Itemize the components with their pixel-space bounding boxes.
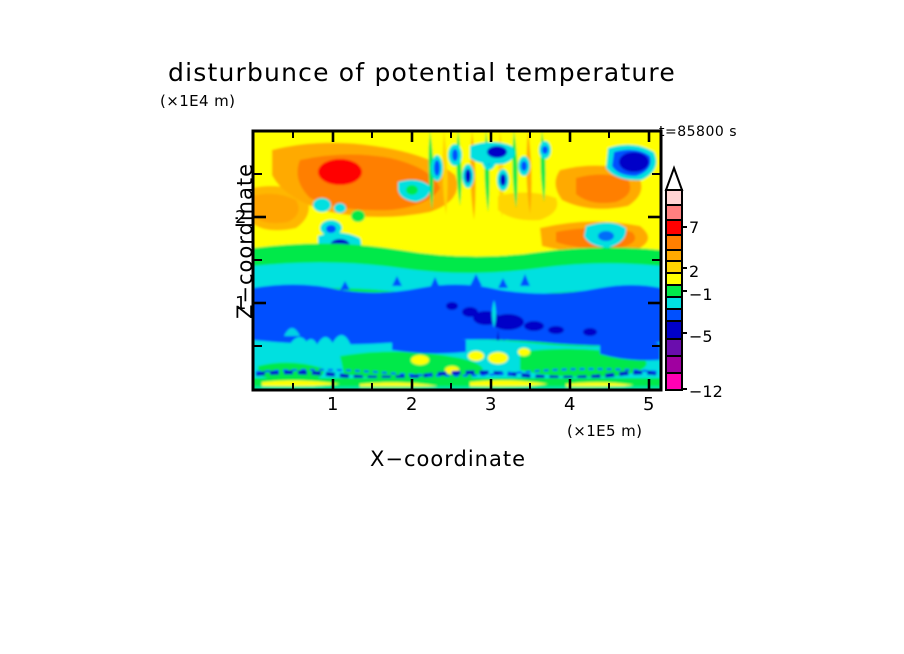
colorbar-band (666, 235, 682, 250)
colorbar-band (666, 190, 682, 205)
contour-field (253, 131, 661, 390)
colorbar-band (666, 273, 682, 285)
figure-canvas: disturbunce of potential temperature (×1… (0, 0, 904, 654)
colorbar-band (666, 297, 682, 309)
colorbar-band (666, 339, 682, 356)
colorbar-band (666, 321, 682, 339)
colorbar-band (666, 373, 682, 390)
colorbar-band (666, 285, 682, 297)
colorbar-band (666, 250, 682, 261)
colorbar-band (666, 205, 682, 220)
plot-svg (0, 0, 904, 654)
colorbar-band (666, 261, 682, 273)
colorbar[interactable] (666, 168, 687, 390)
colorbar-band (666, 356, 682, 373)
colorbar-arrow-tip (666, 168, 682, 190)
colorbar-band (666, 309, 682, 321)
colorbar-band (666, 220, 682, 235)
